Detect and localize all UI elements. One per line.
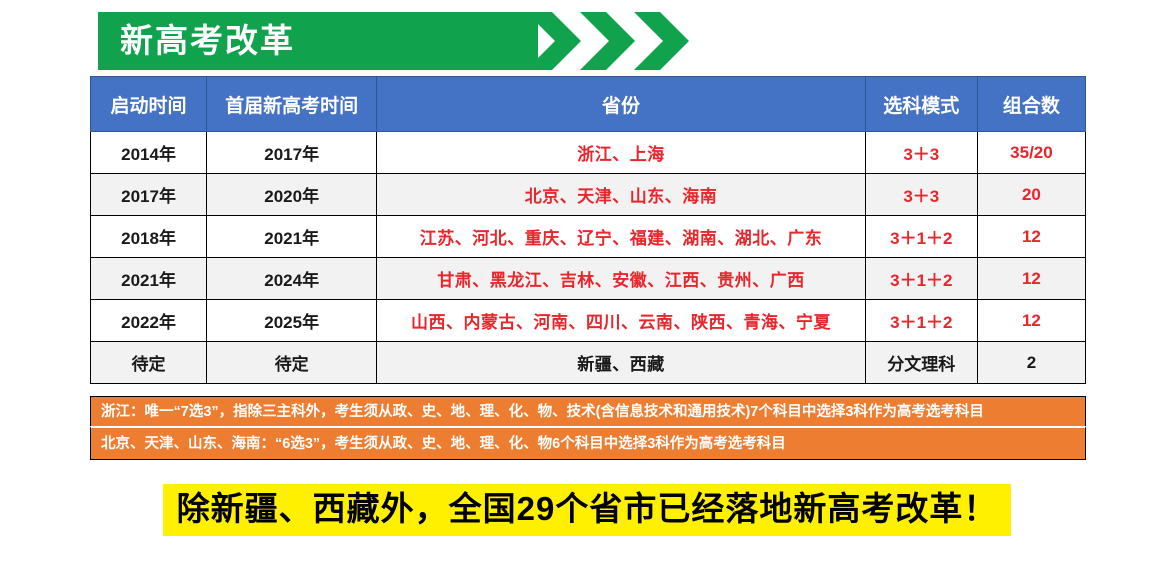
table-row: 2021年 2024年 甘肃、黑龙江、吉林、安徽、江西、贵州、广西 3＋1＋2 … <box>91 258 1086 300</box>
table-row: 2014年 2017年 浙江、上海 3＋3 35/20 <box>91 132 1086 174</box>
cell-first-exam: 2024年 <box>207 258 377 300</box>
cell-subject-mode: 3＋1＋2 <box>865 216 977 258</box>
page-title: 新高考改革 <box>120 12 295 70</box>
cell-start-time: 2014年 <box>91 132 207 174</box>
cell-start-time: 2018年 <box>91 216 207 258</box>
cell-start-time: 2022年 <box>91 300 207 342</box>
cell-subject-mode: 3＋3 <box>865 174 977 216</box>
cell-first-exam: 2020年 <box>207 174 377 216</box>
cell-provinces: 江苏、河北、重庆、辽宁、福建、湖南、湖北、广东 <box>377 216 865 258</box>
cell-provinces: 北京、天津、山东、海南 <box>377 174 865 216</box>
table-row: 2018年 2021年 江苏、河北、重庆、辽宁、福建、湖南、湖北、广东 3＋1＋… <box>91 216 1086 258</box>
column-header-subject-mode: 选科模式 <box>865 77 977 132</box>
footer-highlight-text: 除新疆、西藏外，全国29个省市已经落地新高考改革！ <box>163 484 1012 536</box>
column-header-start-time: 启动时间 <box>91 77 207 132</box>
cell-combinations: 35/20 <box>977 132 1085 174</box>
cell-first-exam: 待定 <box>207 342 377 384</box>
note-zhejiang: 浙江：唯一“7选3”，指除三主科外，考生须从政、史、地、理、化、物、技术(含信息… <box>90 396 1086 426</box>
cell-first-exam: 2025年 <box>207 300 377 342</box>
cell-combinations: 12 <box>977 300 1085 342</box>
cell-combinations: 20 <box>977 174 1085 216</box>
chevron-right-icon <box>526 12 584 70</box>
cell-combinations: 2 <box>977 342 1085 384</box>
cell-start-time: 2017年 <box>91 174 207 216</box>
cell-subject-mode: 3＋1＋2 <box>865 258 977 300</box>
reform-table-container: 启动时间 首届新高考时间 省份 选科模式 组合数 2014年 2017年 浙江、… <box>90 76 1086 384</box>
cell-subject-mode: 3＋1＋2 <box>865 300 977 342</box>
reform-table: 启动时间 首届新高考时间 省份 选科模式 组合数 2014年 2017年 浙江、… <box>90 76 1086 384</box>
note-six-choose-three: 北京、天津、山东、海南：“6选3”，考生须从政、史、地、理、化、物6个科目中选择… <box>90 426 1086 460</box>
table-header-row: 启动时间 首届新高考时间 省份 选科模式 组合数 <box>91 77 1086 132</box>
table-row: 待定 待定 新疆、西藏 分文理科 2 <box>91 342 1086 384</box>
header-banner: 新高考改革 <box>98 12 706 70</box>
cell-provinces: 浙江、上海 <box>377 132 865 174</box>
cell-provinces: 新疆、西藏 <box>377 342 865 384</box>
chevron-right-icon <box>634 12 692 70</box>
cell-start-time: 待定 <box>91 342 207 384</box>
table-row: 2017年 2020年 北京、天津、山东、海南 3＋3 20 <box>91 174 1086 216</box>
cell-first-exam: 2021年 <box>207 216 377 258</box>
table-row: 2022年 2025年 山西、内蒙古、河南、四川、云南、陕西、青海、宁夏 3＋1… <box>91 300 1086 342</box>
chevron-right-icon <box>580 12 638 70</box>
cell-combinations: 12 <box>977 216 1085 258</box>
cell-provinces: 甘肃、黑龙江、吉林、安徽、江西、贵州、广西 <box>377 258 865 300</box>
column-header-provinces: 省份 <box>377 77 865 132</box>
cell-combinations: 12 <box>977 258 1085 300</box>
cell-subject-mode: 3＋3 <box>865 132 977 174</box>
notes-section: 浙江：唯一“7选3”，指除三主科外，考生须从政、史、地、理、化、物、技术(含信息… <box>90 396 1086 460</box>
cell-provinces: 山西、内蒙古、河南、四川、云南、陕西、青海、宁夏 <box>377 300 865 342</box>
column-header-combinations: 组合数 <box>977 77 1085 132</box>
column-header-first-exam: 首届新高考时间 <box>207 77 377 132</box>
footer-banner-container: 除新疆、西藏外，全国29个省市已经落地新高考改革！ <box>0 484 1174 536</box>
cell-first-exam: 2017年 <box>207 132 377 174</box>
cell-start-time: 2021年 <box>91 258 207 300</box>
cell-subject-mode: 分文理科 <box>865 342 977 384</box>
